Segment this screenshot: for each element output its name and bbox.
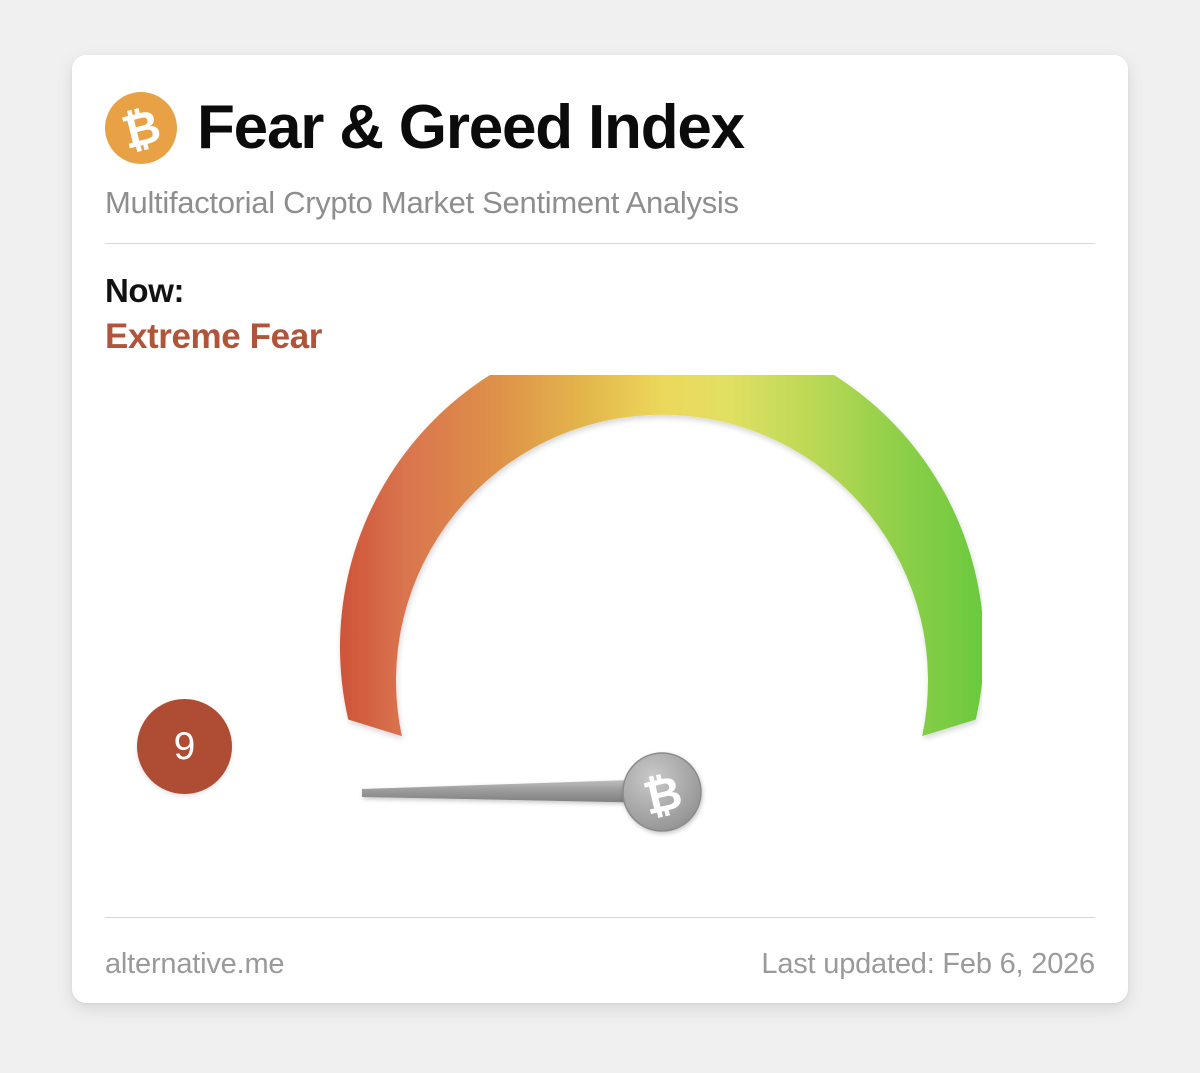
svg-text:₿: ₿	[117, 99, 166, 159]
card-header: ₿ Fear & Greed Index	[105, 92, 744, 164]
page-subtitle: Multifactorial Crypto Market Sentiment A…	[105, 185, 739, 221]
page-title: Fear & Greed Index	[197, 97, 744, 159]
gauge-arc	[340, 375, 982, 736]
card-footer: alternative.me Last updated: Feb 6, 2026	[105, 948, 1095, 981]
status-block: Now: Extreme Fear	[105, 273, 322, 357]
gauge-needle	[362, 779, 662, 803]
gauge-chart: ₿	[72, 375, 1128, 895]
bitcoin-icon: ₿	[105, 92, 177, 164]
screen-root: ₿ Fear & Greed Index Multifactorial Cryp…	[0, 0, 1200, 1073]
last-updated-text: Last updated: Feb 6, 2026	[761, 948, 1095, 981]
fear-greed-card: ₿ Fear & Greed Index Multifactorial Cryp…	[72, 55, 1128, 1003]
source-link[interactable]: alternative.me	[105, 948, 284, 981]
footer-divider	[105, 917, 1095, 918]
status-label: Now:	[105, 273, 322, 310]
header-divider	[105, 243, 1095, 244]
status-value: Extreme Fear	[105, 316, 322, 357]
gauge-svg: ₿	[222, 375, 982, 895]
gauge-hub: ₿	[623, 753, 701, 831]
